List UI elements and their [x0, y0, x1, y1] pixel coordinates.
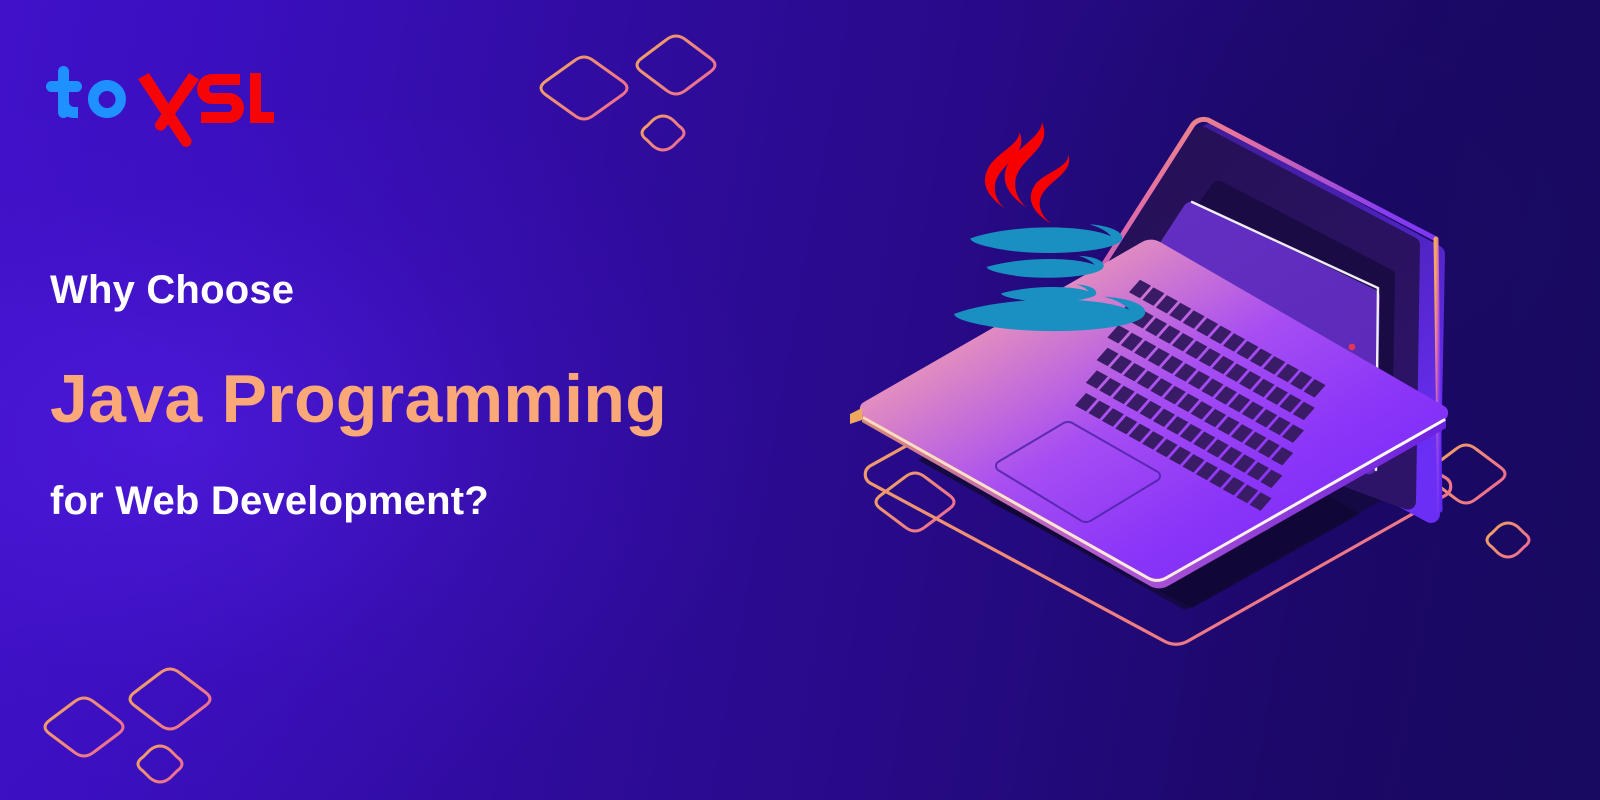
- java-laptop-illustration: [840, 110, 1600, 670]
- java-promo-banner: Why Choose Java Programming for Web Deve…: [0, 0, 1600, 800]
- decor-diamond-top-left-of-center: [541, 57, 627, 119]
- decor-diamond-top-center-small: [642, 116, 684, 150]
- java-logo: [954, 122, 1145, 331]
- headline-line-3: for Web Development?: [50, 479, 870, 523]
- headline-line-2: Java Programming: [50, 364, 870, 435]
- logo-text-xsl: [138, 73, 274, 147]
- toxsl-logo[interactable]: [44, 58, 274, 148]
- decor-diamond-bottom-left-small: [138, 746, 182, 782]
- headline-block: Why Choose Java Programming for Web Deve…: [50, 268, 870, 523]
- decor-diamond-bottom-left-upper: [130, 669, 210, 729]
- laptop-left-accent: [850, 408, 862, 424]
- java-steam-icon: [985, 122, 1069, 224]
- decor-diamond-top-center-large: [637, 36, 715, 94]
- decor-diamond-bottom-left-mid: [45, 698, 123, 756]
- headline-line-1: Why Choose: [50, 268, 870, 312]
- logo-text-to: [46, 66, 126, 118]
- screen-red-dot: [1349, 344, 1356, 351]
